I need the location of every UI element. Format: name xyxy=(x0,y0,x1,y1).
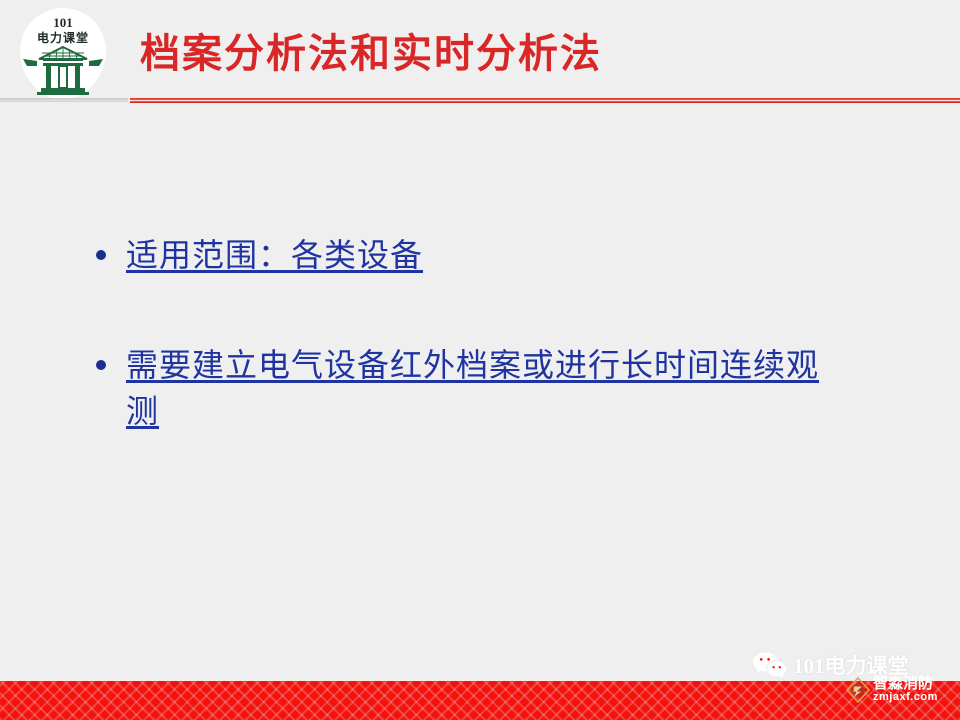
svg-text:电力课堂: 电力课堂 xyxy=(37,30,89,45)
presentation-slide: 101 电力课堂 xyxy=(0,0,960,720)
zhimiao-shield-icon xyxy=(846,677,870,703)
svg-text:101: 101 xyxy=(53,15,73,30)
wechat-icon xyxy=(752,650,786,680)
bullet-text: 需要建立电气设备红外档案或进行长时间连续观测 xyxy=(126,342,842,434)
watermark-url: zmjaxf.com xyxy=(873,692,938,703)
footer-band xyxy=(0,681,960,720)
bullet-text: 适用范围：各类设备 xyxy=(126,232,423,278)
header-divider-right xyxy=(130,98,960,103)
watermark: 智淼消防 zmjaxf.com xyxy=(846,676,938,703)
bullet-marker-icon xyxy=(96,342,126,388)
list-item: 适用范围：各类设备 xyxy=(96,232,856,278)
list-item: 需要建立电气设备红外档案或进行长时间连续观测 xyxy=(96,342,866,434)
power-classroom-logo: 101 电力课堂 xyxy=(13,6,113,102)
bullet-marker-icon xyxy=(96,232,126,278)
slide-header: 101 电力课堂 xyxy=(0,0,960,104)
slide-content: 适用范围：各类设备 需要建立电气设备红外档案或进行长时间连续观测 xyxy=(0,104,960,681)
header-divider-left xyxy=(0,98,128,102)
watermark-name: 智淼消防 xyxy=(873,676,938,691)
watermark-text: 智淼消防 zmjaxf.com xyxy=(873,676,938,703)
page-title: 档案分析法和实时分析法 xyxy=(140,28,930,80)
